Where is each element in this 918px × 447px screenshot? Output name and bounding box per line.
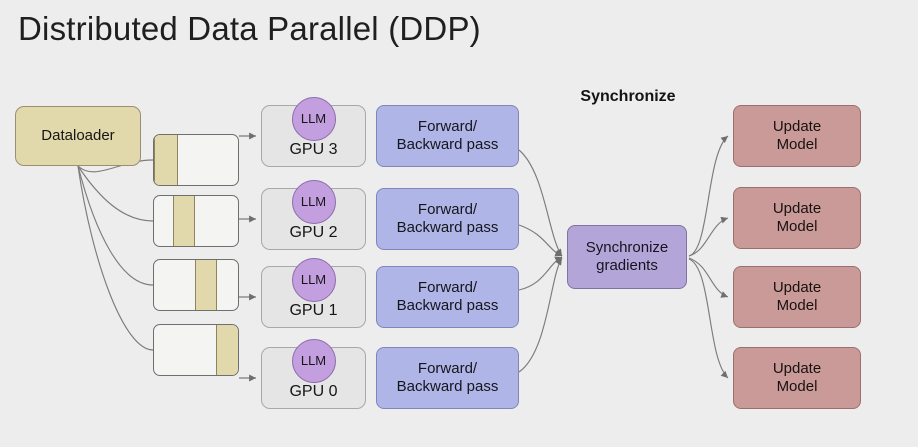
shard-fill-1 bbox=[173, 195, 195, 247]
llm-bubble-label: LLM bbox=[301, 111, 326, 127]
fwd-line2-0: Backward pass bbox=[397, 378, 499, 396]
update-line2-0: Model bbox=[773, 378, 821, 396]
fwd-line2-2: Backward pass bbox=[397, 219, 499, 237]
llm-bubble-icon: LLM bbox=[292, 339, 336, 383]
dataloader-label: Dataloader bbox=[41, 127, 114, 145]
sync-line1: Synchronize bbox=[586, 239, 669, 257]
llm-bubble-icon: LLM bbox=[292, 97, 336, 141]
llm-bubble-label: LLM bbox=[301, 194, 326, 210]
update-line2-3: Model bbox=[773, 136, 821, 154]
gpu-label-3: GPU 3 bbox=[289, 140, 337, 160]
dataloader-node[interactable]: Dataloader bbox=[15, 106, 141, 166]
llm-bubble-icon: LLM bbox=[292, 180, 336, 224]
llm-bubble-label: LLM bbox=[301, 353, 326, 369]
sync-line2: gradients bbox=[586, 257, 669, 275]
data-shard-0[interactable] bbox=[153, 134, 239, 186]
update-model-node-3[interactable]: Update Model bbox=[733, 105, 861, 167]
update-model-node-0[interactable]: Update Model bbox=[733, 347, 861, 409]
update-line1-2: Update bbox=[773, 200, 821, 218]
update-model-node-2[interactable]: Update Model bbox=[733, 187, 861, 249]
gpu-label-1: GPU 1 bbox=[289, 301, 337, 321]
page-title: Distributed Data Parallel (DDP) bbox=[18, 10, 481, 48]
update-line1-3: Update bbox=[773, 118, 821, 136]
fwd-line2-1: Backward pass bbox=[397, 297, 499, 315]
gpu-node-3[interactable]: LLM GPU 3 bbox=[261, 105, 366, 167]
llm-bubble-label: LLM bbox=[301, 272, 326, 288]
fwd-line2-3: Backward pass bbox=[397, 136, 499, 154]
update-line1-1: Update bbox=[773, 279, 821, 297]
llm-bubble-icon: LLM bbox=[292, 258, 336, 302]
update-model-node-1[interactable]: Update Model bbox=[733, 266, 861, 328]
shard-fill-3 bbox=[216, 324, 239, 376]
update-line2-1: Model bbox=[773, 297, 821, 315]
shard-fill-0 bbox=[154, 134, 178, 186]
gpu-label-0: GPU 0 bbox=[289, 382, 337, 402]
data-shard-1[interactable] bbox=[153, 195, 239, 247]
fwd-line1-2: Forward/ bbox=[397, 201, 499, 219]
gpu-node-0[interactable]: LLM GPU 0 bbox=[261, 347, 366, 409]
update-line2-2: Model bbox=[773, 218, 821, 236]
fwd-line1-0: Forward/ bbox=[397, 360, 499, 378]
data-shard-2[interactable] bbox=[153, 259, 239, 311]
gpu-label-2: GPU 2 bbox=[289, 223, 337, 243]
gpu-node-2[interactable]: LLM GPU 2 bbox=[261, 188, 366, 250]
forward-backward-node-2[interactable]: Forward/ Backward pass bbox=[376, 188, 519, 250]
synchronize-section-label: Synchronize bbox=[568, 88, 688, 106]
shard-fill-2 bbox=[195, 259, 217, 311]
forward-backward-node-3[interactable]: Forward/ Backward pass bbox=[376, 105, 519, 167]
forward-backward-node-0[interactable]: Forward/ Backward pass bbox=[376, 347, 519, 409]
fwd-line1-3: Forward/ bbox=[397, 118, 499, 136]
update-line1-0: Update bbox=[773, 360, 821, 378]
fwd-line1-1: Forward/ bbox=[397, 279, 499, 297]
diagram-canvas: Distributed Data Parallel (DDP) bbox=[0, 0, 918, 447]
forward-backward-node-1[interactable]: Forward/ Backward pass bbox=[376, 266, 519, 328]
data-shard-3[interactable] bbox=[153, 324, 239, 376]
synchronize-gradients-node[interactable]: Synchronize gradients bbox=[567, 225, 687, 289]
gpu-node-1[interactable]: LLM GPU 1 bbox=[261, 266, 366, 328]
